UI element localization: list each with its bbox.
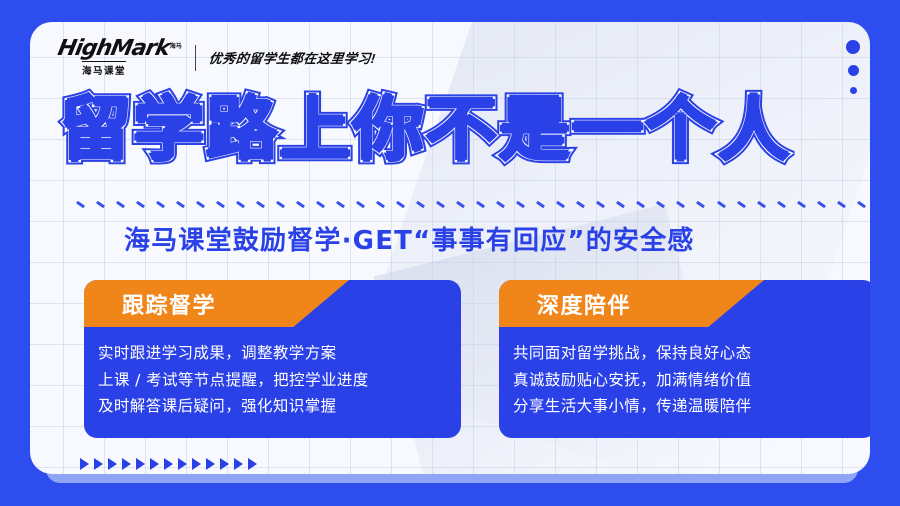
slash-mark <box>456 200 465 208</box>
card-body-line: 真诚鼓励贴心安抚，加满情绪价值 <box>513 367 870 394</box>
white-panel: HighMark 海马 海马课堂 优秀的留学生都在这里学习! 留学路上你不是一个… <box>30 22 870 474</box>
slash-mark <box>756 200 765 208</box>
slash-mark <box>516 200 525 208</box>
slash-mark <box>116 200 125 208</box>
logo-wordmark-text: HighMark <box>56 38 171 60</box>
slash-mark <box>96 200 105 208</box>
arrow-icon <box>122 458 131 470</box>
poster-canvas: HighMark 海马 海马课堂 优秀的留学生都在这里学习! 留学路上你不是一个… <box>0 0 900 506</box>
logo-wordmark: HighMark 海马 <box>58 38 182 60</box>
highmark-logo: HighMark 海马 海马课堂 <box>58 38 182 77</box>
dot-small <box>850 87 857 94</box>
card-body-line: 及时解答课后疑问，强化知识掌握 <box>98 393 461 420</box>
feature-cards: 跟踪督学实时跟进学习成果，调整教学方案上课 / 考试等节点提醒，把控学业进度及时… <box>84 280 870 438</box>
slash-mark <box>817 200 826 208</box>
slash-mark <box>196 200 205 208</box>
slash-mark <box>316 200 325 208</box>
arrow-icon <box>206 458 215 470</box>
logo-superscript: 海马 <box>170 44 182 50</box>
slash-mark <box>276 200 285 208</box>
slash-mark <box>356 200 365 208</box>
header-divider <box>195 45 197 71</box>
arrow-icon <box>220 458 229 470</box>
arrow-icon <box>164 458 173 470</box>
dot-large <box>846 40 860 54</box>
slash-mark <box>636 200 645 208</box>
arrow-icon <box>248 458 257 470</box>
card-tab-label: 深度陪伴 <box>537 288 631 320</box>
slash-mark <box>176 200 185 208</box>
brand-tagline: 优秀的留学生都在这里学习! <box>208 48 377 67</box>
card-body-line: 共同面对留学挑战，保持良好心态 <box>513 340 870 367</box>
card-body: 实时跟进学习成果，调整教学方案上课 / 考试等节点提醒，把控学业进度及时解答课后… <box>84 332 461 420</box>
slash-mark <box>496 200 505 208</box>
slash-mark <box>616 200 625 208</box>
card-tab-label: 跟踪督学 <box>122 288 216 320</box>
slash-mark <box>576 200 585 208</box>
card-body-line: 实时跟进学习成果，调整教学方案 <box>98 340 461 367</box>
slash-mark <box>596 200 605 208</box>
card-tab: 深度陪伴 <box>499 280 764 327</box>
slash-mark <box>376 200 385 208</box>
arrow-icon <box>150 458 159 470</box>
slash-mark <box>156 200 165 208</box>
logo-chinese-name: 海马课堂 <box>82 61 126 77</box>
dot-medium <box>848 65 859 76</box>
slash-mark <box>476 200 485 208</box>
slash-mark <box>396 200 405 208</box>
subtitle: 海马课堂鼓励督学·GET“事事有回应”的安全感 <box>124 220 695 257</box>
slash-mark <box>656 200 665 208</box>
slash-mark <box>776 200 785 208</box>
slash-mark <box>696 200 705 208</box>
slash-mark <box>76 200 85 208</box>
arrow-icon <box>108 458 117 470</box>
feature-card: 跟踪督学实时跟进学习成果，调整教学方案上课 / 考试等节点提醒，把控学业进度及时… <box>84 280 461 438</box>
slash-mark <box>136 200 145 208</box>
card-body-line: 分享生活大事小情，传递温暖陪伴 <box>513 393 870 420</box>
slash-mark <box>857 200 866 208</box>
arrow-icon <box>178 458 187 470</box>
card-tab: 跟踪督学 <box>84 280 349 327</box>
slash-mark <box>796 200 805 208</box>
arrow-icon <box>136 458 145 470</box>
arrow-icon <box>80 458 89 470</box>
card-body-line: 上课 / 考试等节点提醒，把控学业进度 <box>98 367 461 394</box>
panel-content: HighMark 海马 海马课堂 优秀的留学生都在这里学习! 留学路上你不是一个… <box>30 22 870 474</box>
slash-mark <box>216 200 225 208</box>
arrow-icon <box>192 458 201 470</box>
arrow-icon <box>94 458 103 470</box>
main-title: 留学路上你不是一个人 <box>60 96 870 165</box>
slash-mark <box>716 200 725 208</box>
slash-mark <box>296 200 305 208</box>
card-body: 共同面对留学挑战，保持良好心态真诚鼓励贴心安抚，加满情绪价值分享生活大事小情，传… <box>499 332 870 420</box>
slash-mark <box>436 200 445 208</box>
slash-mark <box>837 200 846 208</box>
slash-mark <box>556 200 565 208</box>
slash-mark <box>256 200 265 208</box>
brand-header: HighMark 海马 海马课堂 优秀的留学生都在这里学习! <box>58 38 376 77</box>
dot-decoration <box>846 40 860 94</box>
arrow-strip <box>80 458 257 470</box>
slash-mark <box>236 200 245 208</box>
slash-mark <box>336 200 345 208</box>
arrow-icon <box>234 458 243 470</box>
slash-mark <box>736 200 745 208</box>
slash-divider <box>76 198 866 210</box>
slash-mark <box>676 200 685 208</box>
slash-mark <box>416 200 425 208</box>
feature-card: 深度陪伴共同面对留学挑战，保持良好心态真诚鼓励贴心安抚，加满情绪价值分享生活大事… <box>499 280 870 438</box>
slash-mark <box>536 200 545 208</box>
